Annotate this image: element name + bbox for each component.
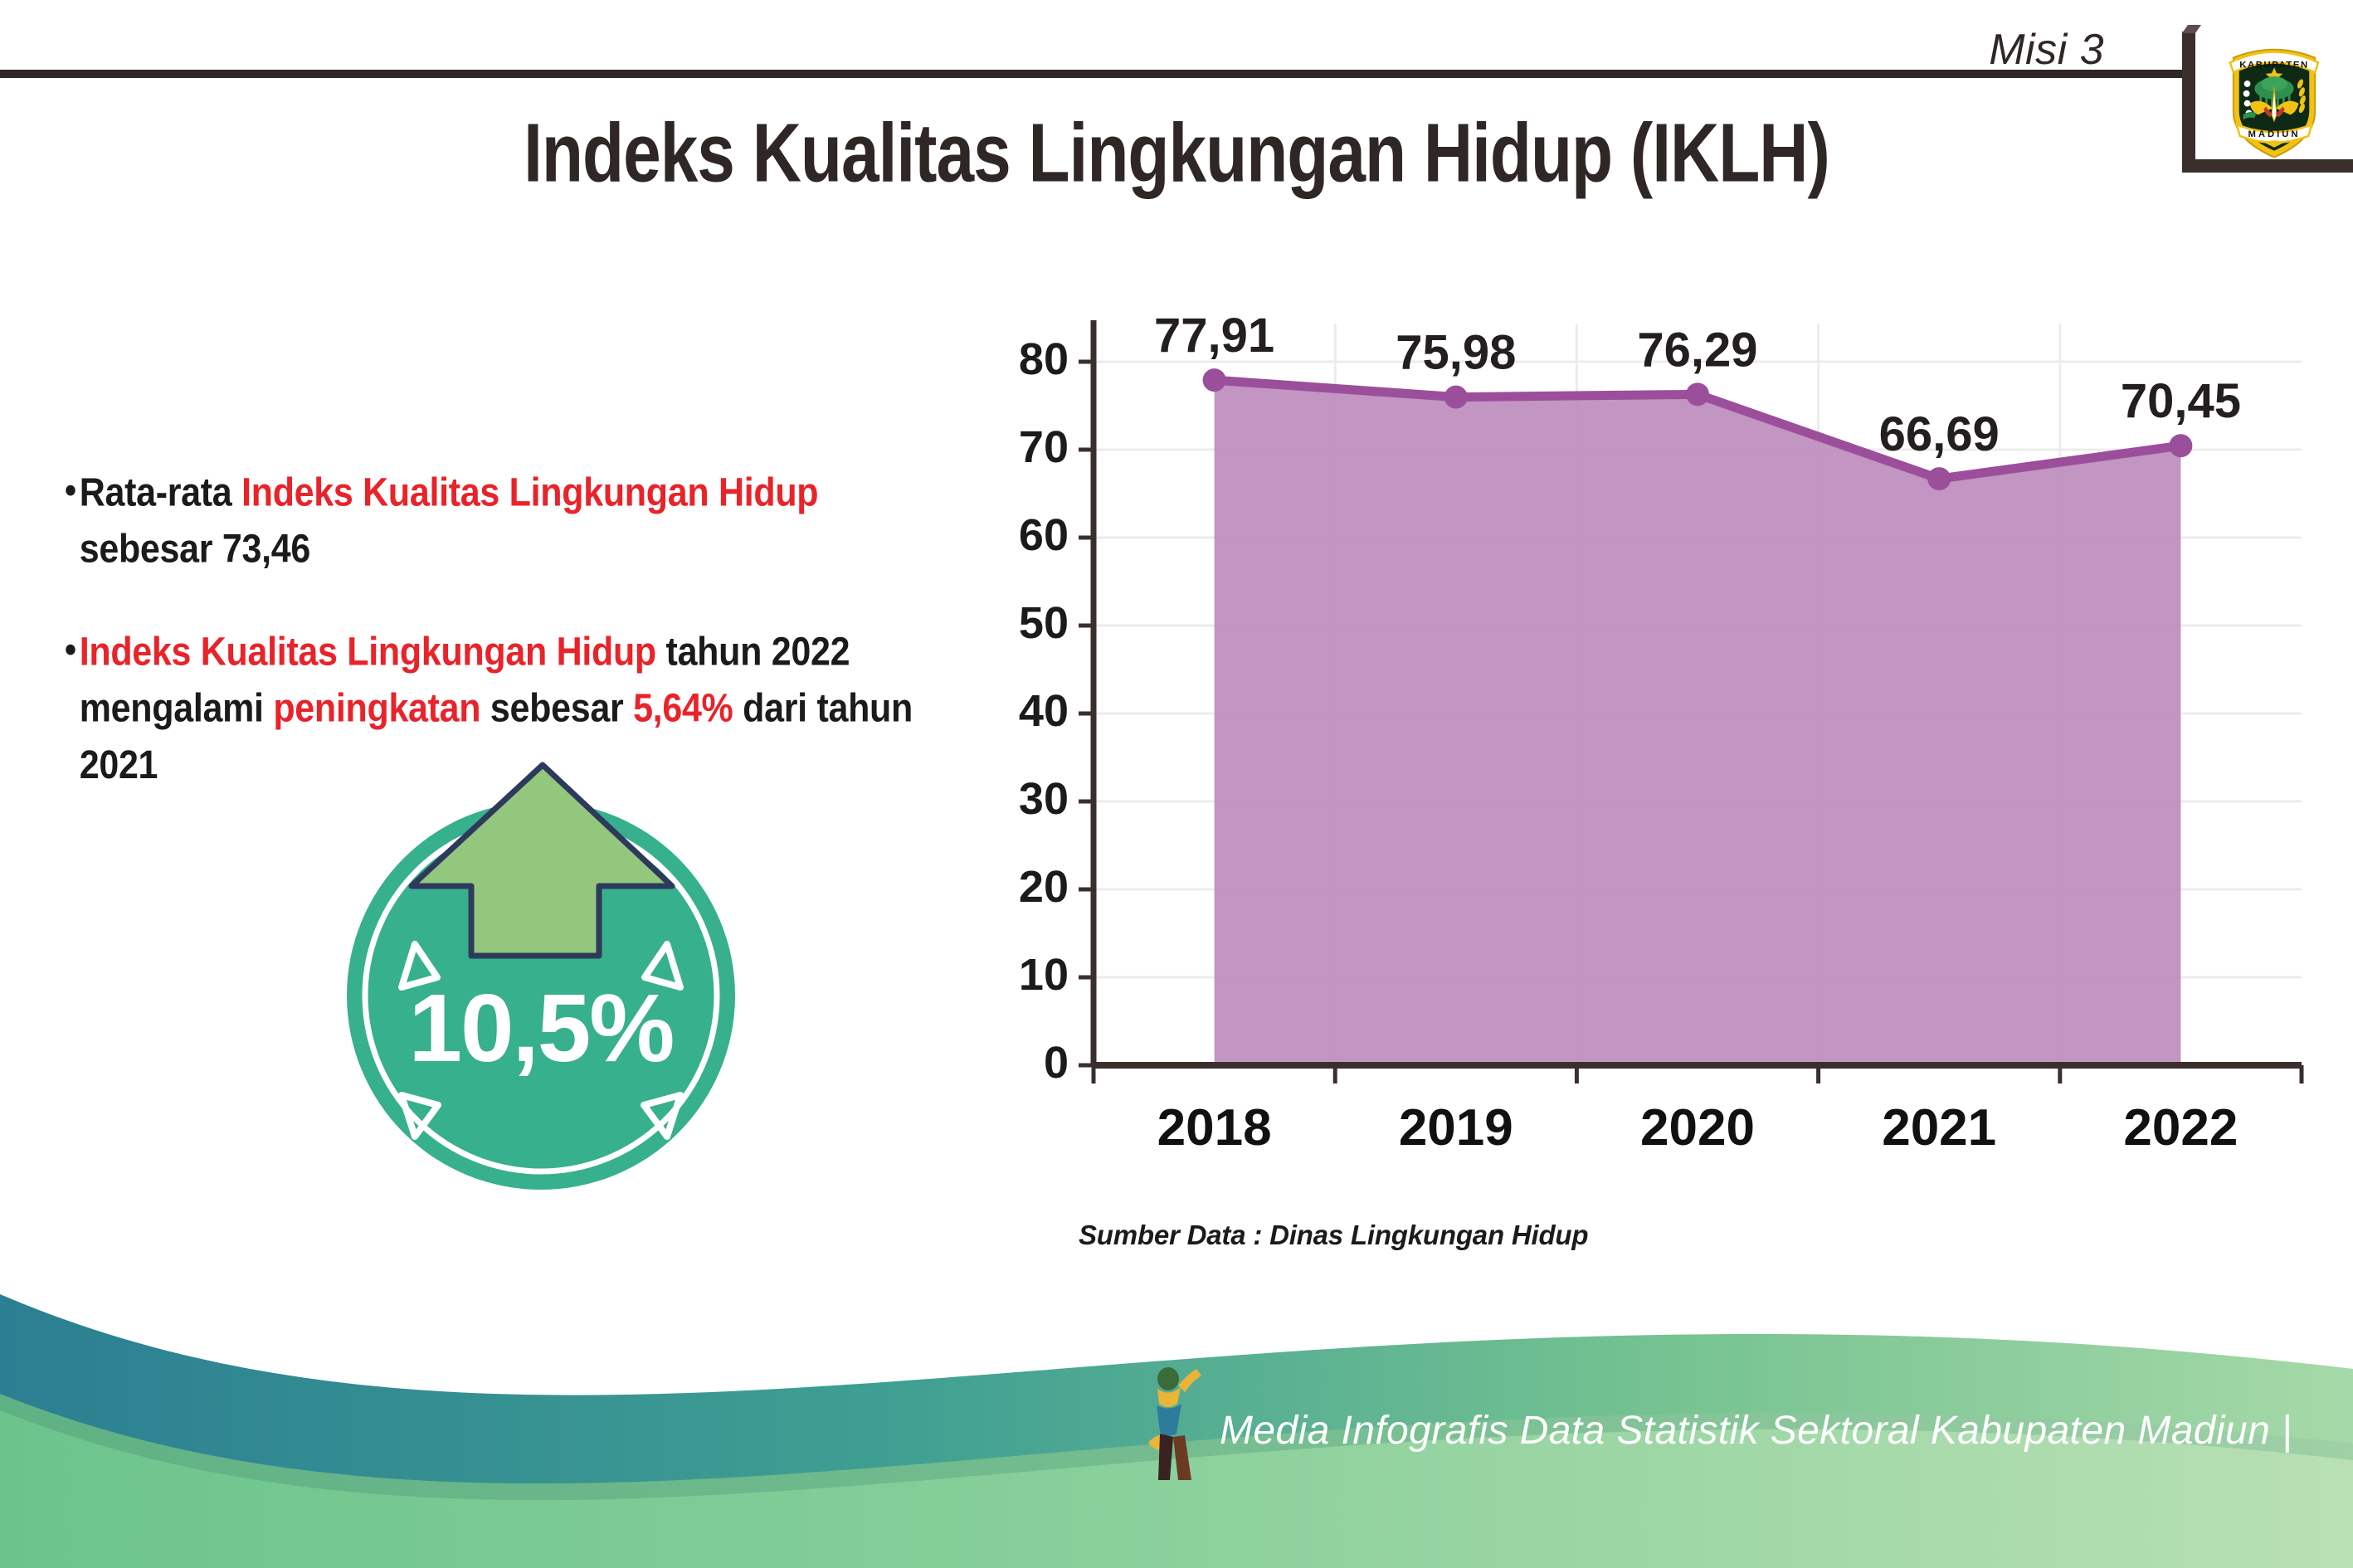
svg-text:20: 20: [1019, 862, 1069, 912]
svg-text:10: 10: [1019, 950, 1069, 1000]
page-title: Indeks Kualitas Lingkungan Hidup (IKLH): [0, 106, 2353, 202]
bullet-2-seg-5: 5,64%: [633, 686, 733, 731]
header-divider-line: [0, 70, 2190, 78]
svg-text:0: 0: [1044, 1038, 1069, 1088]
badge-percent-label: 10,5%: [317, 972, 765, 1083]
summary-bullets: • Rata-rata Indeks Kualitas Lingkungan H…: [65, 465, 961, 776]
svg-text:70: 70: [1019, 422, 1069, 472]
page-footer: Media Infografis Data Statistik Sektoral…: [0, 1269, 2353, 1568]
bullet-1-seg-3: sebesar 73,46: [80, 527, 310, 572]
svg-text:66,69: 66,69: [1879, 407, 2000, 461]
statistik-human-figure-icon: [1135, 1361, 1215, 1485]
svg-text:76,29: 76,29: [1637, 323, 1757, 377]
chart-x-tick-labels: 20182019202020212022: [1157, 1099, 2239, 1157]
bullet-2-seg-3: peningkatan: [273, 686, 480, 731]
svg-text:2018: 2018: [1157, 1099, 1272, 1157]
bullet-1-seg-1: Rata-rata: [80, 470, 241, 515]
iklh-area-chart: 01020304050607080 77,9175,9876,2966,6970…: [971, 295, 2315, 1175]
chart-area-fill: [1215, 380, 2181, 1065]
bullet-2-seg-1: Indeks Kualitas Lingkungan Hidup: [80, 630, 656, 674]
bullet-item-1: • Rata-rata Indeks Kualitas Lingkungan H…: [65, 465, 961, 578]
svg-text:80: 80: [1019, 334, 1069, 384]
bullet-marker: •: [65, 624, 76, 677]
svg-text:2020: 2020: [1640, 1099, 1755, 1157]
bullet-marker: •: [65, 465, 76, 518]
bullet-2-seg-4: sebesar: [480, 686, 633, 731]
svg-text:2022: 2022: [2123, 1099, 2238, 1157]
bullet-1-seg-2: Indeks Kualitas Lingkungan Hidup: [241, 470, 818, 515]
svg-text:75,98: 75,98: [1396, 326, 1516, 380]
svg-text:70,45: 70,45: [2121, 374, 2241, 428]
infographic-page: Misi 3 KABUPATEN: [0, 0, 2353, 1568]
bullet-text-1: Rata-rata Indeks Kualitas Lingkungan Hid…: [80, 465, 961, 578]
svg-text:40: 40: [1019, 686, 1069, 736]
chart-y-axis: 01020304050607080: [1019, 320, 1094, 1088]
increase-badge: 10,5%: [317, 747, 765, 1195]
svg-text:2019: 2019: [1399, 1099, 1513, 1157]
chart-source-note: Sumber Data : Dinas Lingkungan Hidup: [1079, 1220, 1588, 1251]
misi-label: Misi 3: [1989, 25, 2104, 75]
svg-text:60: 60: [1019, 510, 1069, 560]
bracket-vertical-tip: [2182, 25, 2201, 33]
svg-text:30: 30: [1019, 774, 1069, 824]
svg-text:50: 50: [1019, 598, 1069, 648]
chart-x-axis: [1094, 1065, 2302, 1083]
svg-text:77,91: 77,91: [1154, 309, 1274, 363]
footer-caption: Media Infografis Data Statistik Sektoral…: [1220, 1408, 2292, 1454]
svg-text:2021: 2021: [1882, 1099, 1996, 1157]
